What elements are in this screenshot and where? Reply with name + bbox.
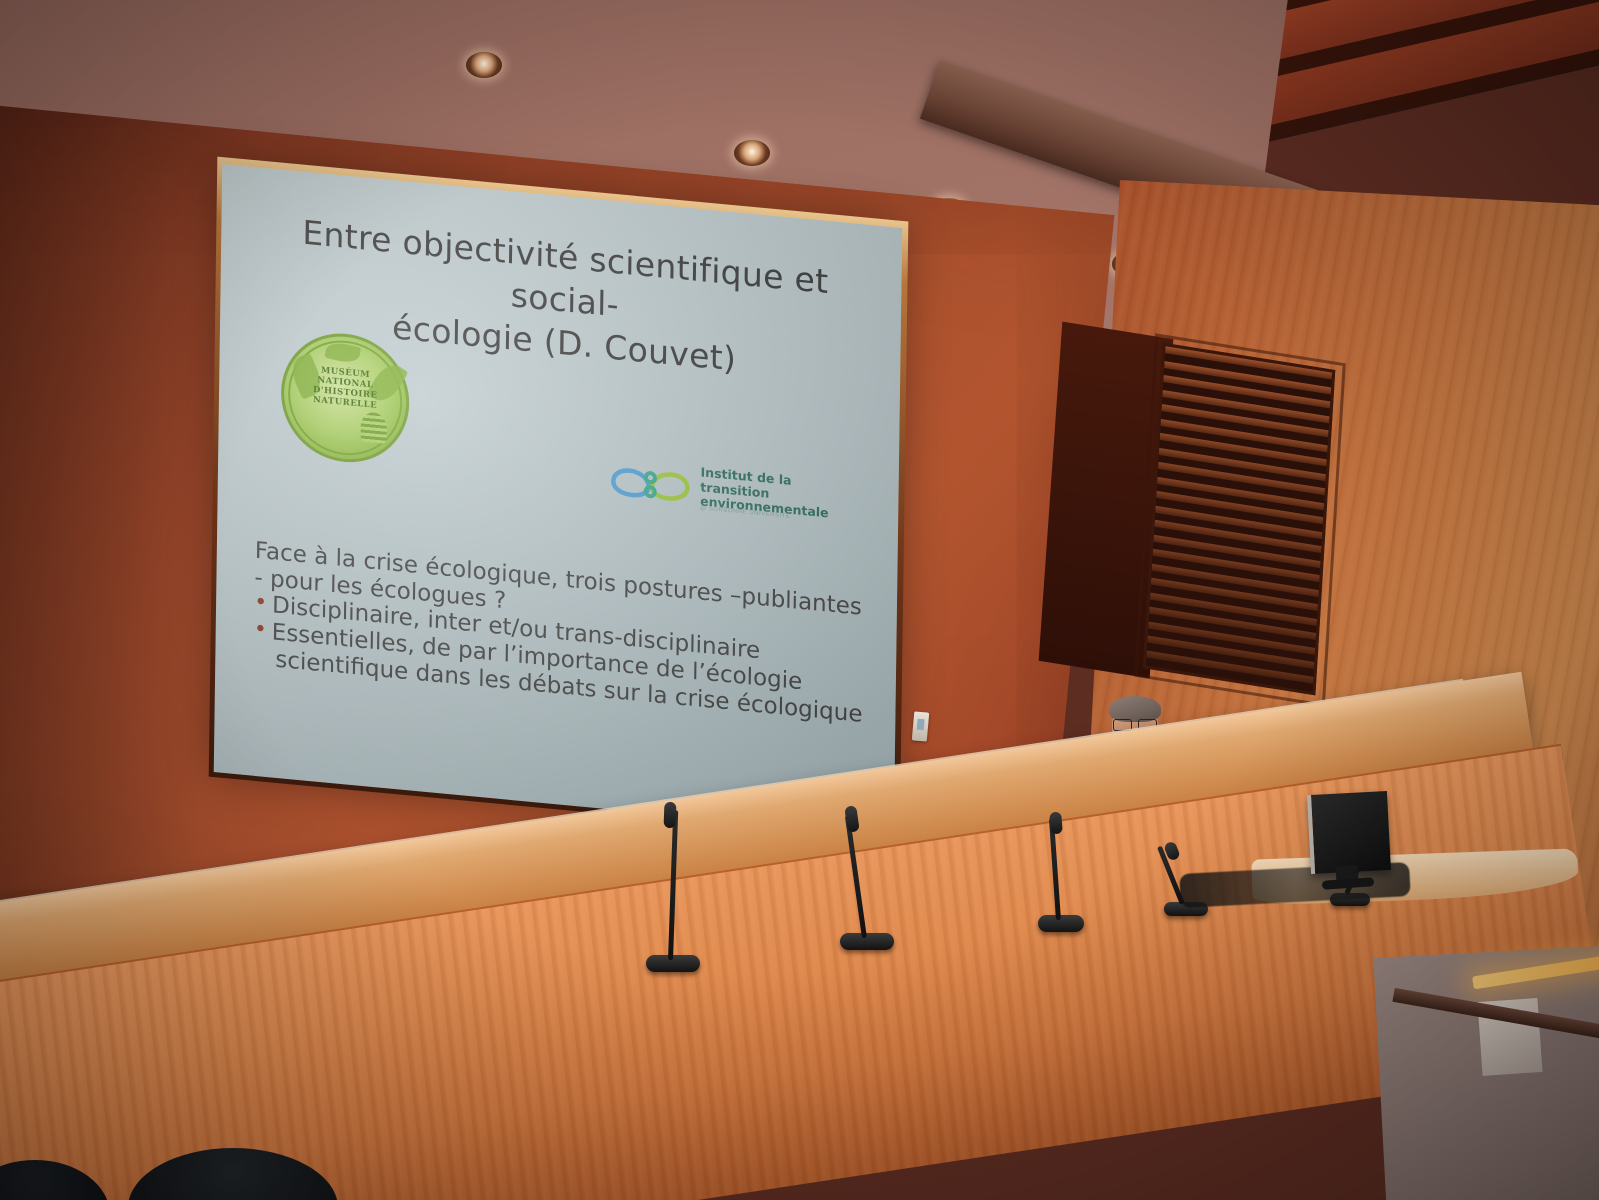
mic-base [1038,915,1084,932]
mnhn-seal-logo: MUSÉUM NATIONAL D'HISTOIRE NATURELLE [280,328,410,468]
auditorium-photo: Entre objectivité scientifique et social… [0,0,1599,1200]
mic-gooseneck [668,810,678,960]
ceiling-downlight-icon [466,52,502,78]
slide-body: Face à la crise écologique, trois postur… [253,538,875,730]
projection-screen: Entre objectivité scientifique et social… [214,164,903,836]
ceiling-downlight-icon [734,140,770,166]
mic-capsule [1049,812,1063,835]
gooseneck-microphone [1038,812,1092,932]
grille-frame [1134,333,1346,707]
desk-monitor [1307,791,1391,874]
ite-logo: Institut de la transition environnementa… [608,453,841,537]
gooseneck-microphone [646,800,706,972]
bullet-icon: • [254,617,267,644]
mic-capsule [664,802,677,828]
bullet-icon: • [254,590,267,617]
gooseneck-microphone [840,806,900,950]
mic-gooseneck [845,815,867,938]
ite-infinity-leaf-icon [608,457,693,513]
mic-capsule [844,805,860,832]
slide-surface: Entre objectivité scientifique et social… [214,164,903,836]
wall-light-switch[interactable] [912,711,929,741]
mic-base [840,933,894,950]
